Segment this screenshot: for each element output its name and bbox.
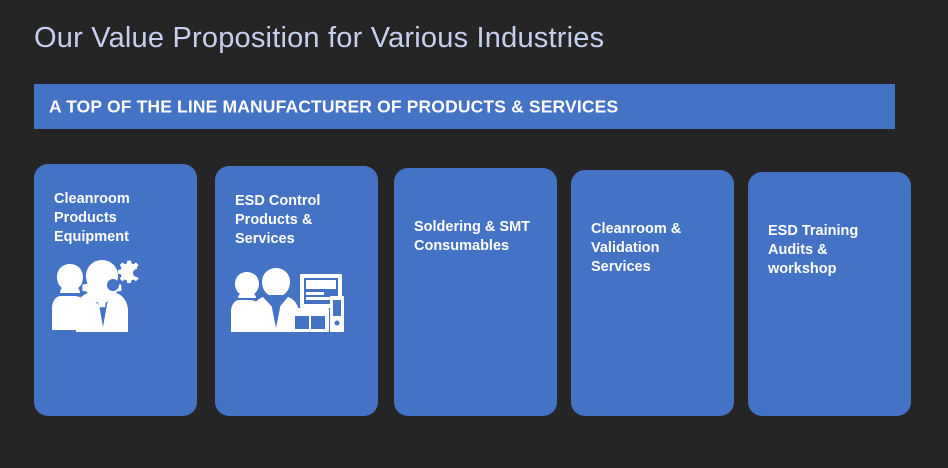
card-label: Cleanroom & Validation Services — [591, 220, 721, 277]
card-cleanroom-validation-services[interactable]: Cleanroom & Validation Services — [571, 170, 734, 416]
card-label: ESD Control Products & Services — [235, 192, 365, 249]
slide-canvas: Our Value Proposition for Various Indust… — [0, 0, 948, 468]
card-soldering-smt-consumables[interactable]: Soldering & SMT Consumables — [394, 168, 557, 416]
value-proposition-card-row: Cleanroom Products Equipment — [0, 0, 948, 468]
card-esd-control-products-services[interactable]: ESD Control Products & Services — [215, 166, 378, 416]
people-presentation-board-icon — [231, 266, 349, 334]
card-label: ESD Training Audits & workshop — [768, 222, 898, 279]
card-label: Cleanroom Products Equipment — [54, 190, 184, 247]
card-label: Soldering & SMT Consumables — [414, 218, 544, 256]
card-esd-training-audits-workshop[interactable]: ESD Training Audits & workshop — [748, 172, 911, 416]
card-cleanroom-products-equipment[interactable]: Cleanroom Products Equipment — [34, 164, 197, 416]
people-gears-icon — [52, 260, 164, 332]
